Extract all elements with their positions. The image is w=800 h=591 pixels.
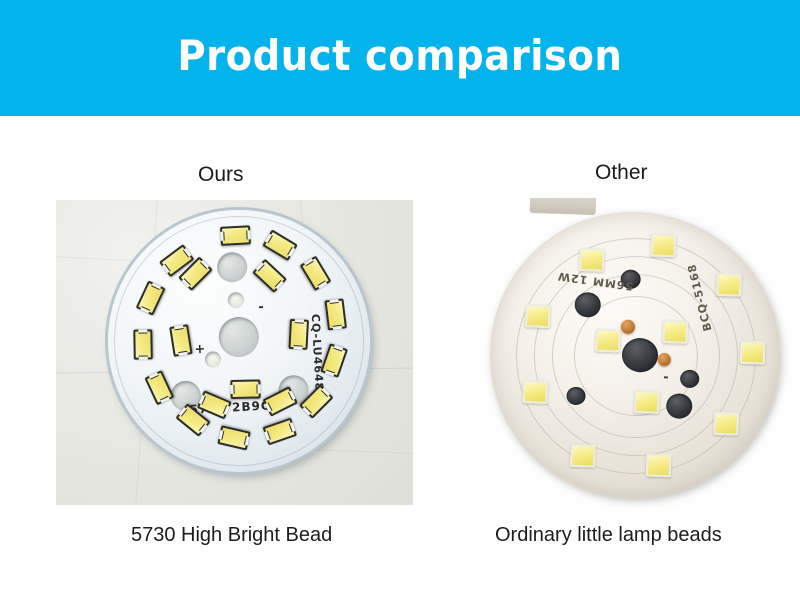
led-bead bbox=[136, 280, 166, 315]
solder-pad-positive bbox=[205, 351, 222, 368]
led-bead bbox=[650, 233, 676, 257]
solder-pad-negative bbox=[227, 292, 244, 309]
led-bead bbox=[217, 425, 251, 450]
board-edge-tab bbox=[530, 198, 597, 215]
mount-hole bbox=[170, 380, 202, 412]
led-bead bbox=[300, 256, 332, 292]
polarity-plus-marking: + bbox=[194, 343, 206, 357]
led-bead bbox=[634, 390, 660, 414]
center-mount-hole bbox=[218, 316, 260, 358]
page-title: Product comparison bbox=[177, 35, 622, 77]
led-bead bbox=[299, 384, 334, 419]
led-bead bbox=[263, 418, 298, 446]
product-photo-other: 56MM 12W BCQ-5168 + - bbox=[470, 198, 800, 508]
led-bead bbox=[525, 304, 551, 328]
column-heading-other: Other bbox=[595, 161, 648, 185]
led-bead bbox=[579, 248, 605, 272]
header-banner: Product comparison bbox=[0, 0, 800, 116]
product-photo-ours: + - 5730 2B9C CQ-LU4648A bbox=[56, 200, 413, 505]
led-bead bbox=[133, 329, 153, 359]
led-bead bbox=[169, 324, 192, 357]
caption-ours: 5730 High Bright Bead bbox=[131, 524, 332, 547]
led-bead bbox=[570, 444, 596, 468]
led-bead bbox=[262, 229, 298, 261]
column-heading-ours: Ours bbox=[198, 163, 244, 187]
polarity-minus-marking: - bbox=[258, 301, 264, 314]
led-bead bbox=[662, 320, 688, 344]
led-bead bbox=[716, 273, 742, 297]
led-bead bbox=[178, 256, 213, 291]
led-bead bbox=[646, 453, 672, 477]
board-silkscreen-code: 5730 2B9C bbox=[189, 399, 271, 415]
led-bead bbox=[175, 403, 210, 437]
led-bead bbox=[263, 386, 298, 417]
led-bead bbox=[522, 380, 548, 404]
led-bead bbox=[144, 370, 174, 405]
mount-hole bbox=[216, 251, 248, 283]
led-bead bbox=[230, 379, 260, 399]
led-bead bbox=[159, 244, 194, 277]
led-pcb-board-other: 56MM 12W BCQ-5168 + - bbox=[485, 207, 785, 503]
led-bead bbox=[595, 329, 621, 353]
mount-hole bbox=[278, 374, 310, 406]
led-bead bbox=[320, 343, 348, 378]
led-bead bbox=[713, 412, 739, 436]
led-pcb-board-ours: + - 5730 2B9C CQ-LU4648A bbox=[101, 203, 376, 478]
board-edge-code: CQ-LU4648A bbox=[310, 314, 326, 401]
led-bead bbox=[252, 259, 287, 293]
led-bead bbox=[220, 225, 251, 246]
led-bead bbox=[324, 298, 347, 330]
led-bead bbox=[740, 341, 766, 365]
led-bead bbox=[288, 319, 309, 350]
polarity-minus-marking: - bbox=[663, 371, 669, 384]
comparison-content: Ours Other + - 5730 2B9C CQ-LU4648A bbox=[0, 116, 800, 591]
led-bead bbox=[197, 390, 232, 419]
caption-other: Ordinary little lamp beads bbox=[495, 524, 722, 547]
